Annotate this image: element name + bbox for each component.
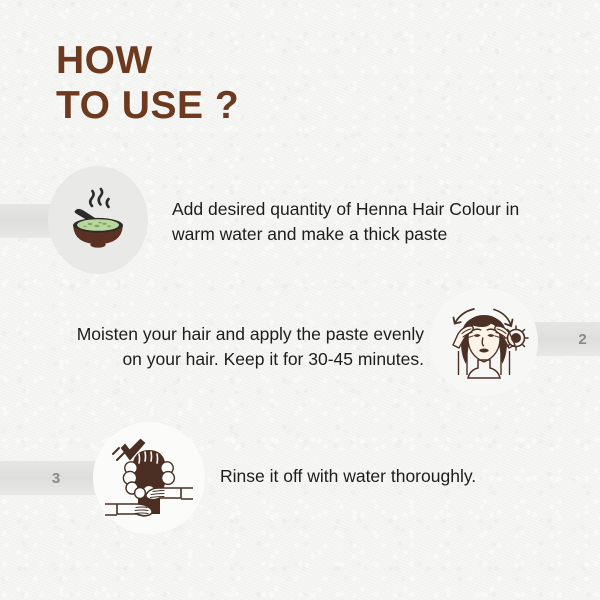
rinsing-hair-icon <box>103 432 195 524</box>
step-2-description: Moisten your hair and apply the paste ev… <box>20 322 424 372</box>
bowl-of-paste-icon <box>61 183 135 257</box>
step-2-icon-circle <box>430 288 538 396</box>
step-3-icon-circle <box>93 422 205 534</box>
step-1-icon-circle <box>48 166 148 274</box>
step-1-description: Add desired quantity of Henna Hair Colou… <box>172 197 572 247</box>
step-3-number: 3 <box>52 470 60 487</box>
woman-applying-paste-icon <box>436 294 532 390</box>
how-to-use-poster: HOW TO USE ? 1 <box>0 0 600 600</box>
step-2-number: 2 <box>578 331 586 348</box>
page-title: HOW TO USE ? <box>56 38 239 128</box>
step-3-description: Rinse it off with water thoroughly. <box>220 464 580 489</box>
